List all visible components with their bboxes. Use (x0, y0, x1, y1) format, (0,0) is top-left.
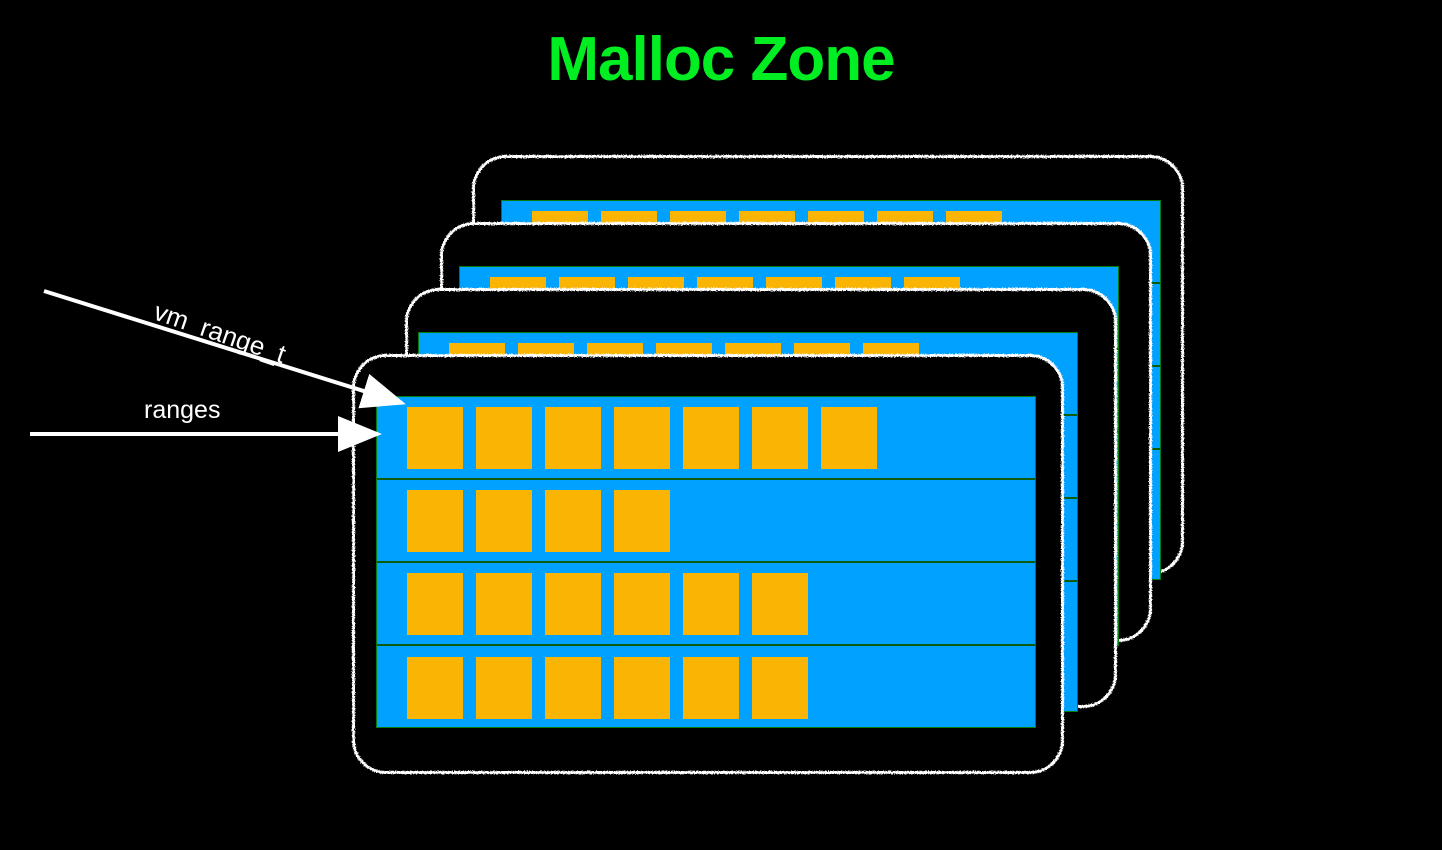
vm-range-cell[interactable] (545, 490, 601, 552)
vm-range-cell[interactable] (614, 490, 670, 552)
zone-card-1-row-2 (377, 480, 1035, 563)
vm-range-cell[interactable] (407, 657, 463, 719)
vm-range-cell[interactable] (407, 490, 463, 552)
vm-range-cell[interactable] (752, 407, 808, 469)
vm-range-t-label: vm_range_t (150, 296, 290, 370)
page-title: Malloc Zone (0, 24, 1442, 95)
vm-range-cell[interactable] (683, 407, 739, 469)
slide-canvas: Malloc Zone (0, 0, 1442, 850)
vm-range-cell[interactable] (545, 407, 601, 469)
vm-range-cell[interactable] (614, 657, 670, 719)
vm-range-cell[interactable] (476, 490, 532, 552)
zone-card-1-row-3 (377, 563, 1035, 646)
vm-range-cell[interactable] (683, 573, 739, 635)
vm-range-cell[interactable] (614, 407, 670, 469)
zone-card-1-panel (376, 396, 1036, 728)
ranges-label: ranges (144, 396, 220, 425)
vm-range-cell[interactable] (476, 573, 532, 635)
vm-range-cell[interactable] (407, 573, 463, 635)
vm-range-cell[interactable] (752, 657, 808, 719)
vm-range-cell[interactable] (545, 657, 601, 719)
vm-range-cell[interactable] (476, 407, 532, 469)
vm-range-cell[interactable] (545, 573, 601, 635)
zone-card-1-row-1 (377, 397, 1035, 480)
vm-range-cell[interactable] (683, 657, 739, 719)
vm-range-cell[interactable] (407, 407, 463, 469)
vm-range-cell[interactable] (614, 573, 670, 635)
vm-range-cell[interactable] (821, 407, 877, 469)
zone-card-1-row-4 (377, 646, 1035, 728)
vm-range-cell[interactable] (476, 657, 532, 719)
vm-range-cell[interactable] (752, 573, 808, 635)
